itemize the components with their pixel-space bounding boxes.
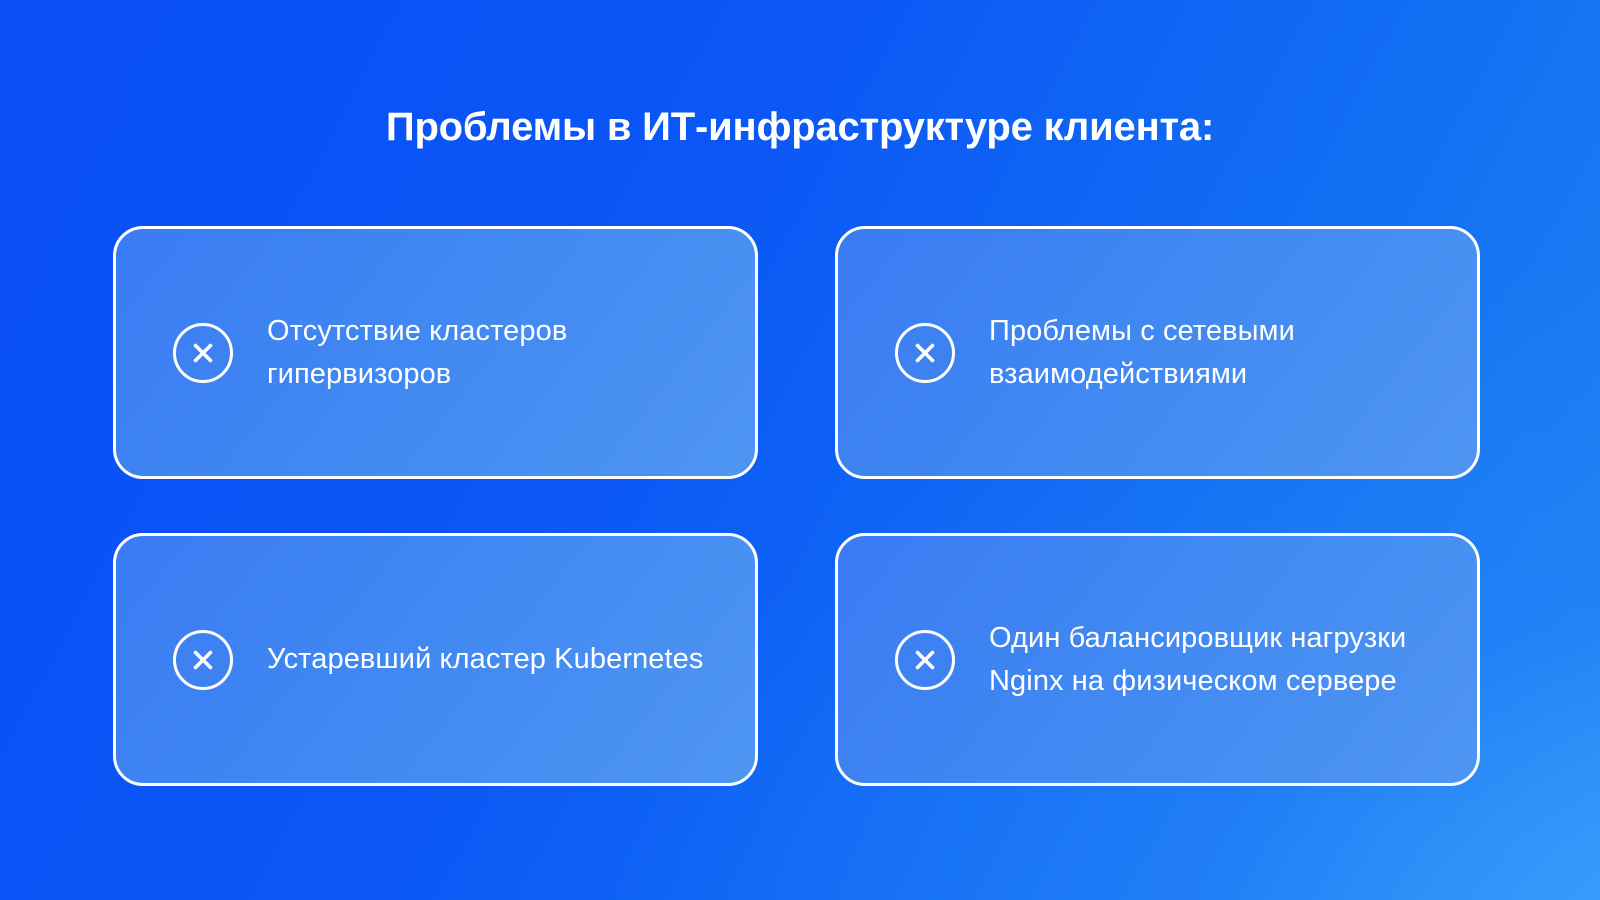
problem-card-label: Устаревший кластер Kubernetes [267,638,704,681]
slide-root: Проблемы в ИТ-инфраструктуре клиента: От… [0,0,1600,900]
problem-card-1: Отсутствие кластеров гипервизоров [113,226,758,479]
page-title: Проблемы в ИТ-инфраструктуре клиента: [0,103,1600,151]
problem-card-label: Отсутствие кластеров гипервизоров [267,310,721,396]
problem-card-2: Проблемы с сетевыми взаимодействиями [835,226,1480,479]
circle-x-icon [894,629,956,691]
problem-cards-grid: Отсутствие кластеров гипервизоров Пробле… [113,226,1480,786]
problem-card-label: Один балансировщик нагрузки Nginx на физ… [989,617,1443,703]
problem-card-4: Один балансировщик нагрузки Nginx на физ… [835,533,1480,786]
circle-x-icon [172,629,234,691]
circle-x-icon [894,322,956,384]
circle-x-icon [172,322,234,384]
problem-card-label: Проблемы с сетевыми взаимодействиями [989,310,1443,396]
problem-card-3: Устаревший кластер Kubernetes [113,533,758,786]
